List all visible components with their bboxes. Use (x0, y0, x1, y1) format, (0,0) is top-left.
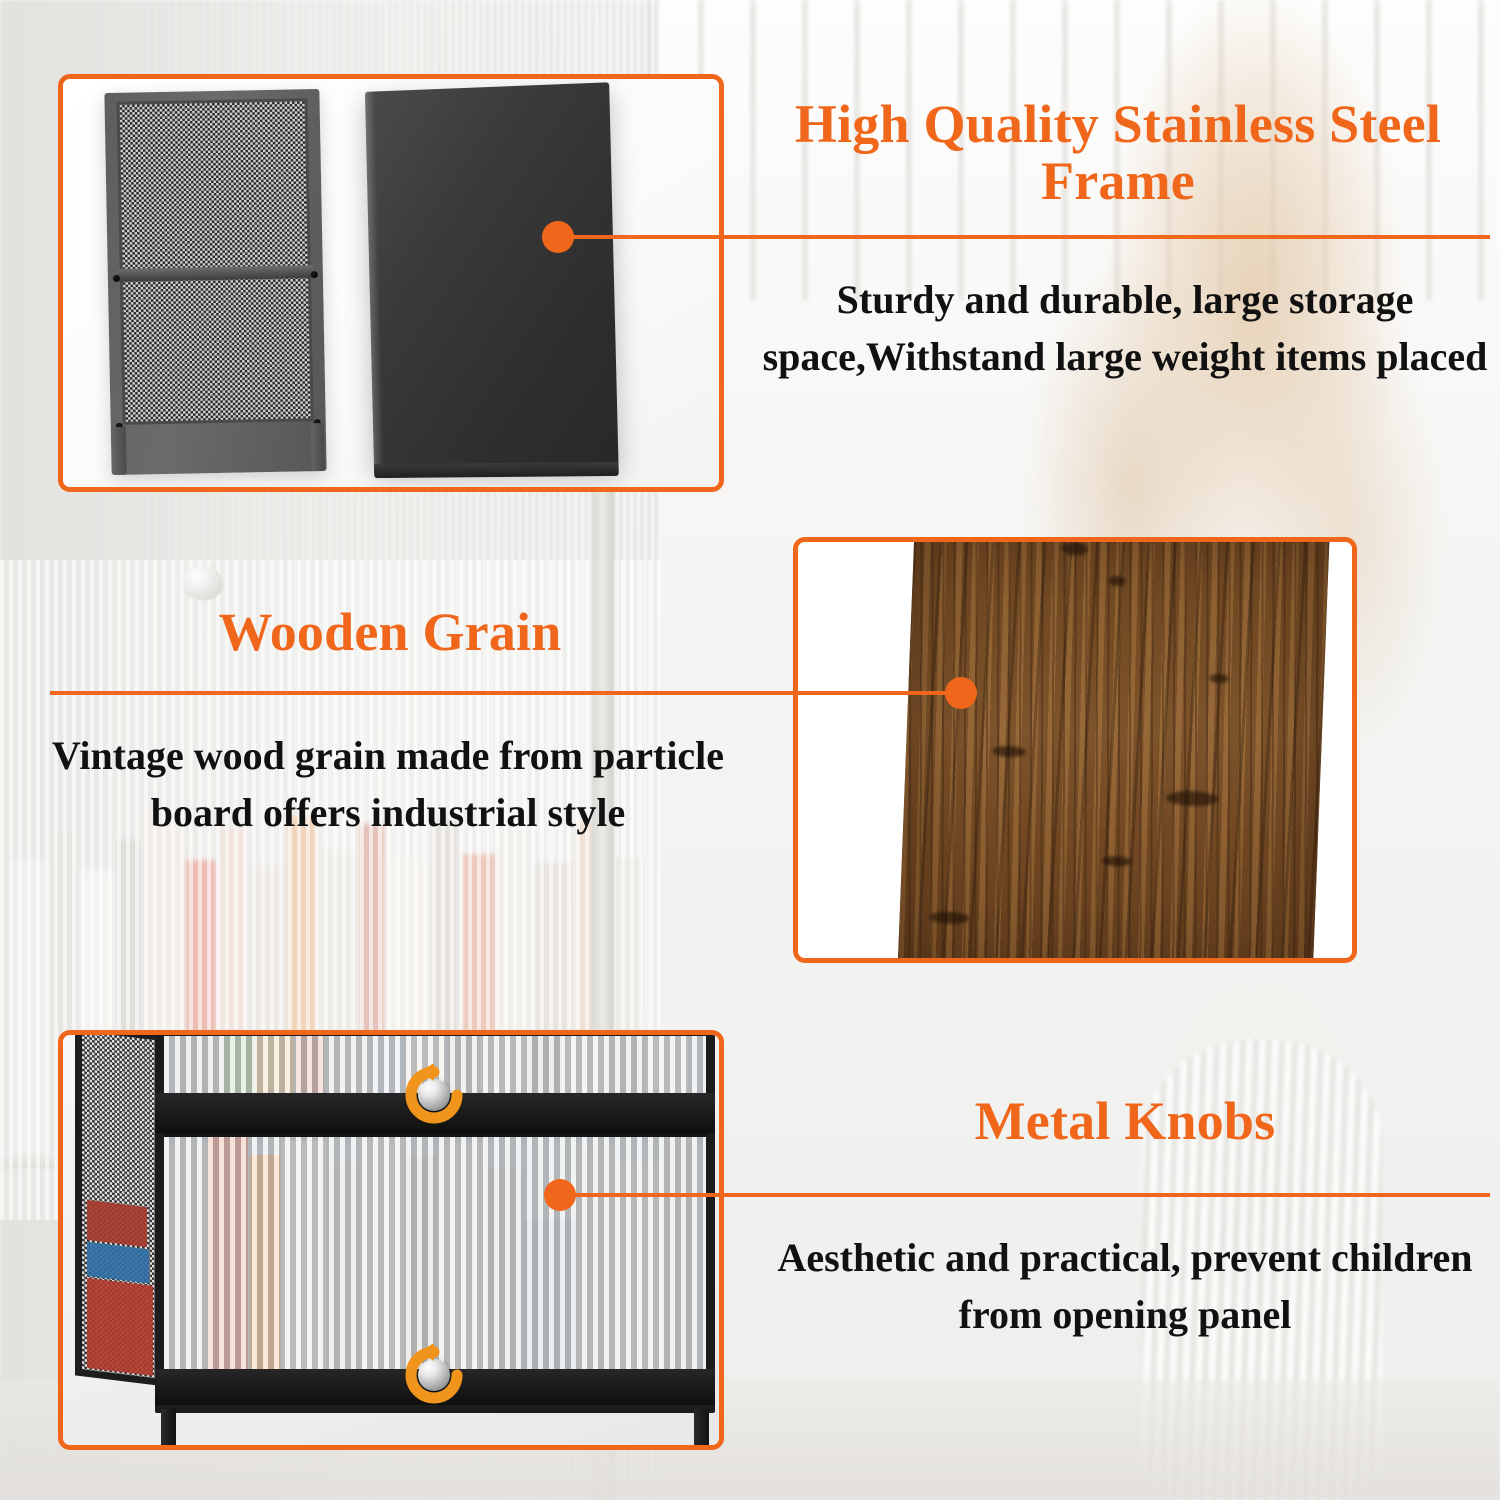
callout-leader-line-wooden-grain (50, 691, 950, 695)
cabinet-lower-glass-door[interactable] (164, 1137, 706, 1369)
mesh-shelf-frame (104, 89, 326, 475)
frame-leg (311, 423, 325, 471)
cabinet-foot-left (155, 1448, 182, 1450)
callout-leader-line-metal-knobs (570, 1193, 1490, 1197)
background-cabinet-knob (183, 566, 223, 600)
feature-photo-wooden-grain (793, 537, 1357, 963)
feature-body-metal-knobs: Aesthetic and practical, prevent childre… (760, 1230, 1490, 1344)
feature-body-stainless-steel-frame: Sturdy and durable, large storage space,… (760, 272, 1490, 386)
mesh-screen (117, 98, 314, 425)
cabinet-leg-left (161, 1409, 176, 1450)
feature-photo-stainless-steel-frame (58, 74, 724, 492)
storage-cabinet (155, 1030, 715, 1413)
fluted-glass-texture (164, 1137, 706, 1369)
headline-wooden-grain: Wooden Grain (60, 604, 720, 661)
headline-stainless-steel-frame: High Quality Stainless Steel Frame (746, 96, 1490, 210)
steel-shelf-panel (365, 82, 619, 468)
body-stainless-steel-frame: Sturdy and durable, large storage space,… (760, 272, 1490, 386)
body-wooden-grain: Vintage wood grain made from particle bo… (48, 728, 728, 842)
circular-arrow-icon-lower-knob (403, 1344, 465, 1406)
cabinet-leg-right (694, 1409, 709, 1450)
cabinet-side-books (83, 1152, 159, 1376)
body-metal-knobs: Aesthetic and practical, prevent childre… (760, 1230, 1490, 1344)
feature-text-stainless-steel-frame: High Quality Stainless Steel Frame (746, 96, 1490, 210)
callout-leader-line-stainless-steel (570, 235, 1490, 239)
headline-metal-knobs: Metal Knobs (760, 1093, 1490, 1150)
feature-text-metal-knobs: Metal Knobs (760, 1093, 1490, 1150)
feature-photo-metal-knobs (58, 1030, 724, 1450)
wood-grain-board (897, 537, 1330, 963)
frame-screw-icon (311, 271, 318, 278)
infographic-canvas: High Quality Stainless Steel Frame Sturd… (0, 0, 1500, 1500)
circular-arrow-icon-upper-knob (403, 1064, 465, 1126)
feature-body-wooden-grain: Vintage wood grain made from particle bo… (48, 728, 728, 842)
frame-leg (113, 427, 127, 475)
cabinet-foot-right (688, 1448, 715, 1450)
feature-text-wooden-grain: Wooden Grain (60, 604, 720, 661)
